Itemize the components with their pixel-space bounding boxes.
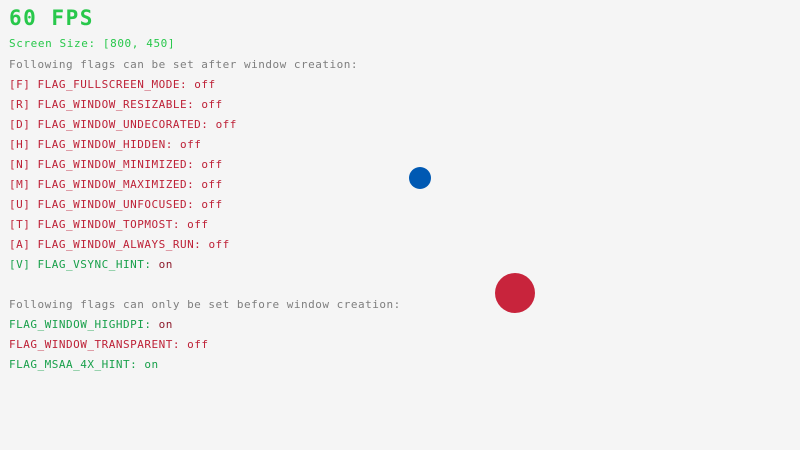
flag-label: FLAG_MSAA_4X_HINT: <box>9 358 137 371</box>
flag-spacer <box>180 338 187 351</box>
flag-label: [M] FLAG_WINDOW_MAXIMIZED: <box>9 178 194 191</box>
flag-value: off <box>201 178 222 191</box>
flag-value: on <box>159 318 173 331</box>
flag-label: FLAG_WINDOW_TRANSPARENT: <box>9 338 180 351</box>
flag-value: on <box>144 358 158 371</box>
flag-row[interactable]: FLAG_WINDOW_TRANSPARENT: off <box>9 338 208 351</box>
flag-row[interactable]: [V] FLAG_VSYNC_HINT: on <box>9 258 173 271</box>
section-heading-after-creation: Following flags can be set after window … <box>9 58 358 71</box>
flag-label: [U] FLAG_WINDOW_UNFOCUSED: <box>9 198 194 211</box>
flag-value: off <box>201 158 222 171</box>
flag-row[interactable]: [R] FLAG_WINDOW_RESIZABLE: off <box>9 98 223 111</box>
flag-spacer <box>151 318 158 331</box>
flag-row[interactable]: [U] FLAG_WINDOW_UNFOCUSED: off <box>9 198 223 211</box>
flag-value: on <box>159 258 173 271</box>
flag-label: [N] FLAG_WINDOW_MINIMIZED: <box>9 158 194 171</box>
flag-row[interactable]: FLAG_WINDOW_HIGHDPI: on <box>9 318 173 331</box>
flag-row[interactable]: [F] FLAG_FULLSCREEN_MODE: off <box>9 78 216 91</box>
flag-value: off <box>201 98 222 111</box>
fps-counter: 60 FPS <box>9 6 94 30</box>
flag-row[interactable]: [D] FLAG_WINDOW_UNDECORATED: off <box>9 118 237 131</box>
flag-value: off <box>201 198 222 211</box>
flag-value: off <box>187 218 208 231</box>
flag-value: off <box>180 138 201 151</box>
flag-row[interactable]: [A] FLAG_WINDOW_ALWAYS_RUN: off <box>9 238 230 251</box>
flag-spacer <box>208 118 215 131</box>
flag-label: [T] FLAG_WINDOW_TOPMOST: <box>9 218 180 231</box>
flag-label: FLAG_WINDOW_HIGHDPI: <box>9 318 151 331</box>
flag-label: [D] FLAG_WINDOW_UNDECORATED: <box>9 118 208 131</box>
flag-label: [A] FLAG_WINDOW_ALWAYS_RUN: <box>9 238 201 251</box>
flag-value: off <box>187 338 208 351</box>
flag-label: [H] FLAG_WINDOW_HIDDEN: <box>9 138 173 151</box>
flag-value: off <box>208 238 229 251</box>
flag-row[interactable]: [T] FLAG_WINDOW_TOPMOST: off <box>9 218 208 231</box>
flag-row[interactable]: FLAG_MSAA_4X_HINT: on <box>9 358 159 371</box>
blue-ball[interactable] <box>409 167 431 189</box>
flag-label: [R] FLAG_WINDOW_RESIZABLE: <box>9 98 194 111</box>
flag-label: [V] FLAG_VSYNC_HINT: <box>9 258 151 271</box>
flag-row[interactable]: [N] FLAG_WINDOW_MINIMIZED: off <box>9 158 223 171</box>
flag-row[interactable]: [H] FLAG_WINDOW_HIDDEN: off <box>9 138 201 151</box>
flag-spacer <box>173 138 180 151</box>
flag-row[interactable]: [M] FLAG_WINDOW_MAXIMIZED: off <box>9 178 223 191</box>
flag-label: [F] FLAG_FULLSCREEN_MODE: <box>9 78 187 91</box>
flag-spacer <box>180 218 187 231</box>
raylib-window-canvas: 60 FPS Screen Size: [800, 450] Following… <box>0 0 800 450</box>
flag-value: off <box>194 78 215 91</box>
red-ball <box>495 273 535 313</box>
flag-value: off <box>216 118 237 131</box>
flag-spacer <box>151 258 158 271</box>
screen-size-readout: Screen Size: [800, 450] <box>9 37 175 50</box>
section-heading-before-creation: Following flags can only be set before w… <box>9 298 401 311</box>
